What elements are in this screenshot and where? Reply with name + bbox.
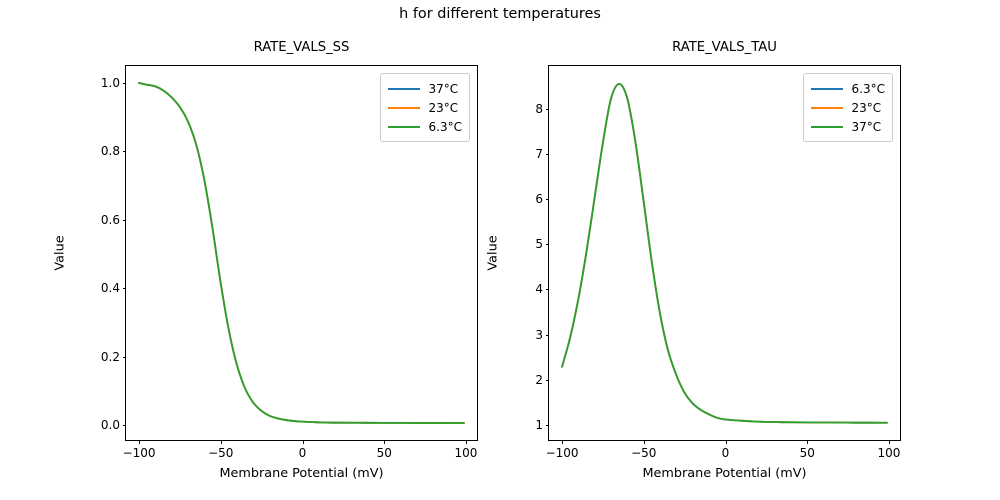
yticklabel-axes-left: 0.0 <box>101 418 120 432</box>
figure-suptitle: h for different temperatures <box>0 4 1000 24</box>
xticklabel-axes-right: 50 <box>800 446 815 460</box>
yticklabel-axes-right: 5 <box>535 237 543 251</box>
legend-line-icon <box>388 88 420 90</box>
ytick-axes-left <box>123 288 127 289</box>
legend-line-icon <box>388 126 420 128</box>
legend-label: 6.3°C <box>429 120 462 134</box>
xtick-axes-right <box>562 440 563 444</box>
yticklabel-axes-left: 0.4 <box>101 281 120 295</box>
legend-entry[interactable]: 6.3°C <box>388 117 462 136</box>
legend-entry[interactable]: 37°C <box>811 117 885 136</box>
xticklabel-axes-left: 0 <box>299 446 307 460</box>
ytick-axes-right <box>546 425 550 426</box>
xtick-axes-left <box>139 440 140 444</box>
yticklabel-axes-right: 2 <box>535 373 543 387</box>
legend-line-icon <box>811 126 843 128</box>
yticklabel-axes-left: 0.6 <box>101 213 120 227</box>
legend-label: 23°C <box>429 101 459 115</box>
legend-label: 23°C <box>852 101 882 115</box>
yticklabel-axes-right: 8 <box>535 102 543 116</box>
yticklabel-axes-right: 7 <box>535 147 543 161</box>
yticklabel-axes-left: 1.0 <box>101 76 120 90</box>
xtick-axes-right <box>726 440 727 444</box>
legend-label: 6.3°C <box>852 82 885 96</box>
ytick-axes-left <box>123 357 127 358</box>
legend-entry[interactable]: 6.3°C <box>811 79 885 98</box>
xticklabel-axes-right: −50 <box>631 446 656 460</box>
legend-label: 37°C <box>852 120 882 134</box>
legend-label: 37°C <box>429 82 459 96</box>
ytick-axes-right <box>546 244 550 245</box>
xaxis-label-right: Membrane Potential (mV) <box>549 466 900 481</box>
yticklabel-axes-left: 0.8 <box>101 144 120 158</box>
subplot-title-right: RATE_VALS_TAU <box>549 40 900 55</box>
xtick-axes-left <box>221 440 222 444</box>
ytick-axes-left <box>123 220 127 221</box>
yaxis-label-left: Value <box>53 235 68 270</box>
ytick-axes-right <box>546 199 550 200</box>
legend-entry[interactable]: 23°C <box>388 98 462 117</box>
legend-line-icon <box>388 107 420 109</box>
xtick-axes-right <box>807 440 808 444</box>
legend-line-icon <box>811 107 843 109</box>
yticklabel-axes-right: 6 <box>535 192 543 206</box>
ytick-axes-right <box>546 335 550 336</box>
xaxis-label-left: Membrane Potential (mV) <box>126 466 477 481</box>
yticklabel-axes-right: 3 <box>535 328 543 342</box>
xticklabel-axes-left: 50 <box>377 446 392 460</box>
legend-right[interactable]: 6.3°C23°C37°C <box>803 73 893 142</box>
matplotlib-figure: h for different temperatures RATE_VALS_S… <box>0 0 1000 500</box>
xticklabel-axes-left: 100 <box>454 446 477 460</box>
legend-line-icon <box>811 88 843 90</box>
xticklabel-axes-left: −100 <box>123 446 156 460</box>
yaxis-label-right: Value <box>486 235 501 270</box>
ytick-axes-right <box>546 109 550 110</box>
xtick-axes-left <box>466 440 467 444</box>
axes-rate-vals-ss: RATE_VALS_SS Membrane Potential (mV) Val… <box>125 65 478 441</box>
xtick-axes-left <box>303 440 304 444</box>
ytick-axes-right <box>546 380 550 381</box>
xticklabel-axes-right: 0 <box>722 446 730 460</box>
xtick-axes-right <box>644 440 645 444</box>
ytick-axes-left <box>123 83 127 84</box>
ytick-axes-right <box>546 289 550 290</box>
xticklabel-axes-right: −100 <box>546 446 579 460</box>
legend-left[interactable]: 37°C23°C6.3°C <box>380 73 470 142</box>
legend-entry[interactable]: 37°C <box>388 79 462 98</box>
legend-entry[interactable]: 23°C <box>811 98 885 117</box>
yticklabel-axes-right: 4 <box>535 282 543 296</box>
xtick-axes-right <box>889 440 890 444</box>
subplot-title-left: RATE_VALS_SS <box>126 40 477 55</box>
ytick-axes-left <box>123 151 127 152</box>
ytick-axes-left <box>123 425 127 426</box>
xticklabel-axes-right: 100 <box>877 446 900 460</box>
axes-rate-vals-tau: RATE_VALS_TAU Membrane Potential (mV) Va… <box>548 65 901 441</box>
xtick-axes-left <box>384 440 385 444</box>
xticklabel-axes-left: −50 <box>208 446 233 460</box>
yticklabel-axes-left: 0.2 <box>101 350 120 364</box>
yticklabel-axes-right: 1 <box>535 418 543 432</box>
ytick-axes-right <box>546 154 550 155</box>
